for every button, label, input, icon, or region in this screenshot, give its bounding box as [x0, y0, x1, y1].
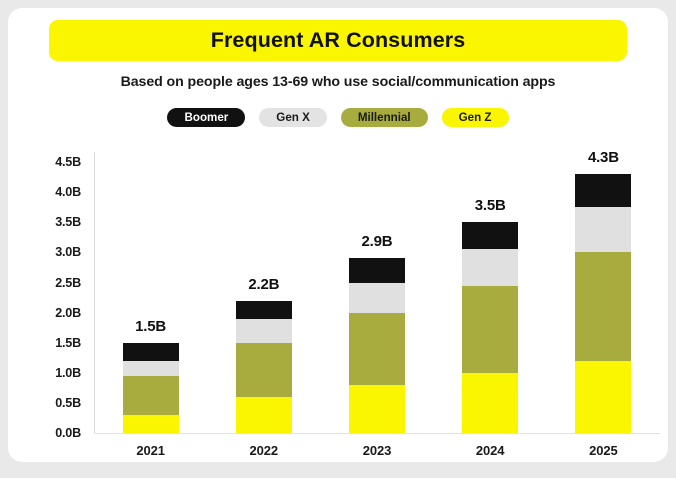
- y-axis-tick-label: 4.5B: [55, 155, 81, 169]
- y-axis-tick-label: 3.5B: [55, 215, 81, 229]
- y-axis-tick-label: 0.0B: [55, 426, 81, 440]
- y-axis-tick-label: 1.5B: [55, 336, 81, 350]
- bar-group[interactable]: 4.3B: [547, 153, 660, 433]
- y-axis-tick-label: 0.5B: [55, 396, 81, 410]
- bar-stack[interactable]: [349, 258, 405, 433]
- bar-segment-millennial[interactable]: [575, 252, 631, 360]
- bar-segment-gen-x[interactable]: [575, 207, 631, 252]
- x-axis: 20212022202320242025: [94, 443, 660, 462]
- y-axis-tick-label: 2.0B: [55, 306, 81, 320]
- bar-group[interactable]: 1.5B: [94, 153, 207, 433]
- y-axis-tick-label: 1.0B: [55, 366, 81, 380]
- bar-segment-gen-z[interactable]: [462, 373, 518, 433]
- bar-segment-boomer[interactable]: [462, 222, 518, 249]
- bar-segment-gen-x[interactable]: [236, 319, 292, 343]
- bar-stack[interactable]: [123, 343, 179, 433]
- bar-segment-millennial[interactable]: [123, 376, 179, 415]
- bar-segment-gen-z[interactable]: [236, 397, 292, 433]
- y-axis-tick-label: 3.0B: [55, 245, 81, 259]
- y-axis: 0.0B0.5B1.0B1.5B2.0B2.5B3.0B3.5B4.0B4.5B: [26, 146, 81, 436]
- bar-total-label: 2.9B: [362, 233, 393, 250]
- bar-total-label: 1.5B: [135, 318, 166, 335]
- bar-total-label: 2.2B: [248, 276, 279, 293]
- x-axis-tick-label: 2022: [207, 443, 320, 458]
- bar-group[interactable]: 3.5B: [434, 153, 547, 433]
- y-axis-tick-label: 2.5B: [55, 276, 81, 290]
- bar-stack[interactable]: [462, 222, 518, 433]
- x-axis-tick-label: 2023: [320, 443, 433, 458]
- bar-total-label: 4.3B: [588, 149, 619, 166]
- bar-segment-gen-z[interactable]: [575, 361, 631, 433]
- bar-group[interactable]: 2.2B: [207, 153, 320, 433]
- bar-segment-boomer[interactable]: [575, 174, 631, 207]
- bar-stack[interactable]: [236, 301, 292, 433]
- bar-total-label: 3.5B: [475, 197, 506, 214]
- chart-card: Frequent AR Consumers Based on people ag…: [8, 8, 668, 462]
- x-axis-tick-label: 2024: [434, 443, 547, 458]
- bars-container: 1.5B2.2B2.9B3.5B4.3B: [94, 153, 660, 433]
- bar-segment-gen-z[interactable]: [123, 415, 179, 433]
- bar-segment-millennial[interactable]: [462, 286, 518, 373]
- bar-segment-boomer[interactable]: [123, 343, 179, 361]
- bar-segment-millennial[interactable]: [236, 343, 292, 397]
- x-axis-tick-label: 2025: [547, 443, 660, 458]
- bar-stack[interactable]: [575, 174, 631, 433]
- chart-plot-area: 0.0B0.5B1.0B1.5B2.0B2.5B3.0B3.5B4.0B4.5B…: [8, 8, 668, 462]
- bar-segment-gen-x[interactable]: [462, 249, 518, 285]
- bar-group[interactable]: 2.9B: [320, 153, 433, 433]
- bar-segment-boomer[interactable]: [349, 258, 405, 282]
- bar-segment-millennial[interactable]: [349, 313, 405, 385]
- bar-segment-gen-z[interactable]: [349, 385, 405, 433]
- bar-segment-boomer[interactable]: [236, 301, 292, 319]
- y-axis-tick-label: 4.0B: [55, 185, 81, 199]
- x-axis-tick-label: 2021: [94, 443, 207, 458]
- bar-segment-gen-x[interactable]: [123, 361, 179, 376]
- bar-segment-gen-x[interactable]: [349, 283, 405, 313]
